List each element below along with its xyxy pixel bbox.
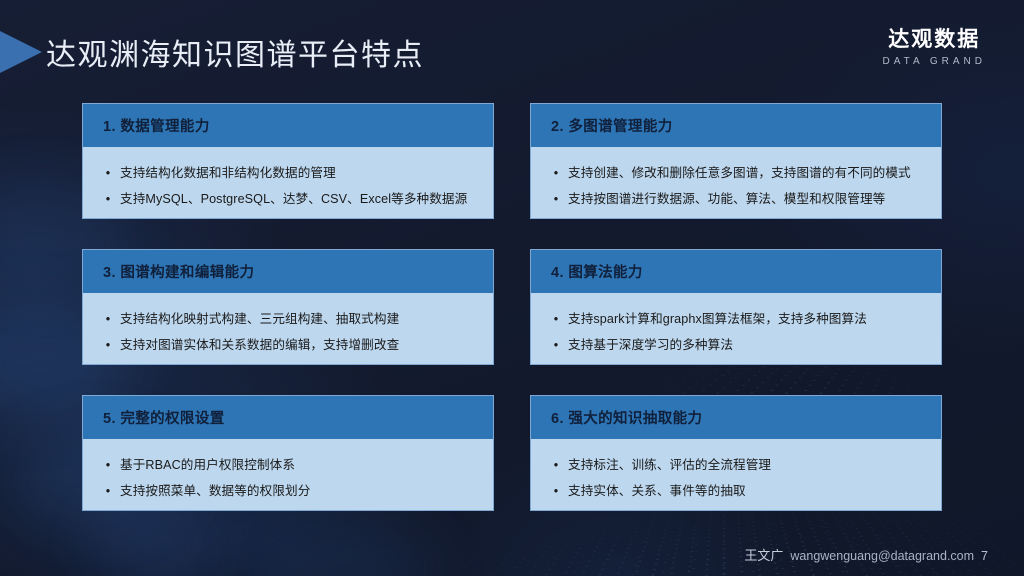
feature-card[interactable]: 2. 多图谱管理能力 • 支持创建、修改和删除任意多图谱，支持图谱的有不同的模式…	[530, 103, 942, 219]
list-item-label: 支持spark计算和graphx图算法框架，支持多种图算法	[568, 310, 867, 330]
background-blob	[90, 505, 220, 576]
slide-canvas: 达观渊海知识图谱平台特点 达观数据 DATA GRAND 1. 数据管理能力 •…	[0, 0, 1024, 576]
list-item-label: 支持结构化映射式构建、三元组构建、抽取式构建	[120, 310, 399, 330]
feature-card[interactable]: 4. 图算法能力 • 支持spark计算和graphx图算法框架，支持多种图算法…	[530, 249, 942, 365]
bullet-icon: •	[551, 190, 561, 210]
feature-card-title: 6. 强大的知识抽取能力	[531, 396, 941, 439]
feature-card[interactable]: 6. 强大的知识抽取能力 • 支持标注、训练、评估的全流程管理 • 支持实体、关…	[530, 395, 942, 511]
bullet-icon: •	[551, 456, 561, 476]
list-item-label: 支持按照菜单、数据等的权限划分	[120, 482, 310, 502]
list-item-label: 支持创建、修改和删除任意多图谱，支持图谱的有不同的模式	[568, 164, 911, 184]
list-item-label: 基于RBAC的用户权限控制体系	[120, 456, 295, 476]
feature-card-body: • 支持spark计算和graphx图算法框架，支持多种图算法 • 支持基于深度…	[531, 293, 941, 365]
list-item: • 支持对图谱实体和关系数据的编辑，支持增删改查	[103, 333, 475, 360]
background-blob	[240, 520, 440, 576]
list-item: • 支持创建、修改和删除任意多图谱，支持图谱的有不同的模式	[551, 160, 923, 187]
list-item: • 支持实体、关系、事件等的抽取	[551, 479, 923, 506]
bullet-icon: •	[551, 164, 561, 184]
feature-card-body: • 支持结构化映射式构建、三元组构建、抽取式构建 • 支持对图谱实体和关系数据的…	[83, 293, 493, 365]
list-item: • 支持按照菜单、数据等的权限划分	[103, 479, 475, 506]
list-item-label: 支持MySQL、PostgreSQL、达梦、CSV、Excel等多种数据源	[120, 190, 467, 210]
list-item-label: 支持标注、训练、评估的全流程管理	[568, 456, 771, 476]
bullet-icon: •	[551, 482, 561, 502]
list-item-label: 支持按图谱进行数据源、功能、算法、模型和权限管理等	[568, 190, 885, 210]
feature-card-title: 5. 完整的权限设置	[83, 396, 493, 439]
feature-card-body: • 支持创建、修改和删除任意多图谱，支持图谱的有不同的模式 • 支持按图谱进行数…	[531, 147, 941, 219]
bullet-icon: •	[103, 310, 113, 330]
slide-footer: 王文广 wangwenguang@datagrand.com 7	[744, 545, 988, 564]
list-item-label: 支持基于深度学习的多种算法	[568, 336, 733, 356]
list-item: • 支持结构化数据和非结构化数据的管理	[103, 160, 475, 187]
list-item-label: 支持实体、关系、事件等的抽取	[568, 482, 746, 502]
brand-logo-name-en: DATA GRAND	[882, 56, 986, 67]
list-item: • 支持标注、训练、评估的全流程管理	[551, 452, 923, 479]
list-item: • 支持MySQL、PostgreSQL、达梦、CSV、Excel等多种数据源	[103, 187, 475, 214]
bullet-icon: •	[103, 190, 113, 210]
list-item: • 支持spark计算和graphx图算法框架，支持多种图算法	[551, 306, 923, 333]
triangle-right-icon	[0, 31, 42, 73]
footer-email: wangwenguang@datagrand.com	[790, 549, 974, 563]
feature-card[interactable]: 5. 完整的权限设置 • 基于RBAC的用户权限控制体系 • 支持按照菜单、数据…	[82, 395, 494, 511]
bullet-icon: •	[103, 336, 113, 356]
bullet-icon: •	[103, 456, 113, 476]
list-item: • 支持按图谱进行数据源、功能、算法、模型和权限管理等	[551, 187, 923, 214]
feature-card[interactable]: 1. 数据管理能力 • 支持结构化数据和非结构化数据的管理 • 支持MySQL、…	[82, 103, 494, 219]
feature-card-title: 1. 数据管理能力	[83, 104, 493, 147]
list-item: • 基于RBAC的用户权限控制体系	[103, 452, 475, 479]
brand-logo-name-cn: 达观数据	[882, 28, 986, 52]
page-number: 7	[981, 549, 988, 563]
feature-card-title: 3. 图谱构建和编辑能力	[83, 250, 493, 293]
feature-card-body: • 支持标注、训练、评估的全流程管理 • 支持实体、关系、事件等的抽取	[531, 439, 941, 511]
list-item: • 支持基于深度学习的多种算法	[551, 333, 923, 360]
bullet-icon: •	[103, 482, 113, 502]
footer-author: 王文广	[744, 545, 783, 564]
feature-card-body: • 基于RBAC的用户权限控制体系 • 支持按照菜单、数据等的权限划分	[83, 439, 493, 511]
list-item-label: 支持对图谱实体和关系数据的编辑，支持增删改查	[120, 336, 399, 356]
feature-card[interactable]: 3. 图谱构建和编辑能力 • 支持结构化映射式构建、三元组构建、抽取式构建 • …	[82, 249, 494, 365]
feature-card-grid: 1. 数据管理能力 • 支持结构化数据和非结构化数据的管理 • 支持MySQL、…	[82, 103, 942, 511]
bullet-icon: •	[551, 310, 561, 330]
list-item-label: 支持结构化数据和非结构化数据的管理	[120, 164, 336, 184]
feature-card-title: 2. 多图谱管理能力	[531, 104, 941, 147]
bullet-icon: •	[551, 336, 561, 356]
page-title: 达观渊海知识图谱平台特点	[46, 30, 424, 74]
brand-logo: 达观数据 DATA GRAND	[882, 28, 986, 67]
bullet-icon: •	[103, 164, 113, 184]
feature-card-title: 4. 图算法能力	[531, 250, 941, 293]
feature-card-body: • 支持结构化数据和非结构化数据的管理 • 支持MySQL、PostgreSQL…	[83, 147, 493, 219]
list-item: • 支持结构化映射式构建、三元组构建、抽取式构建	[103, 306, 475, 333]
